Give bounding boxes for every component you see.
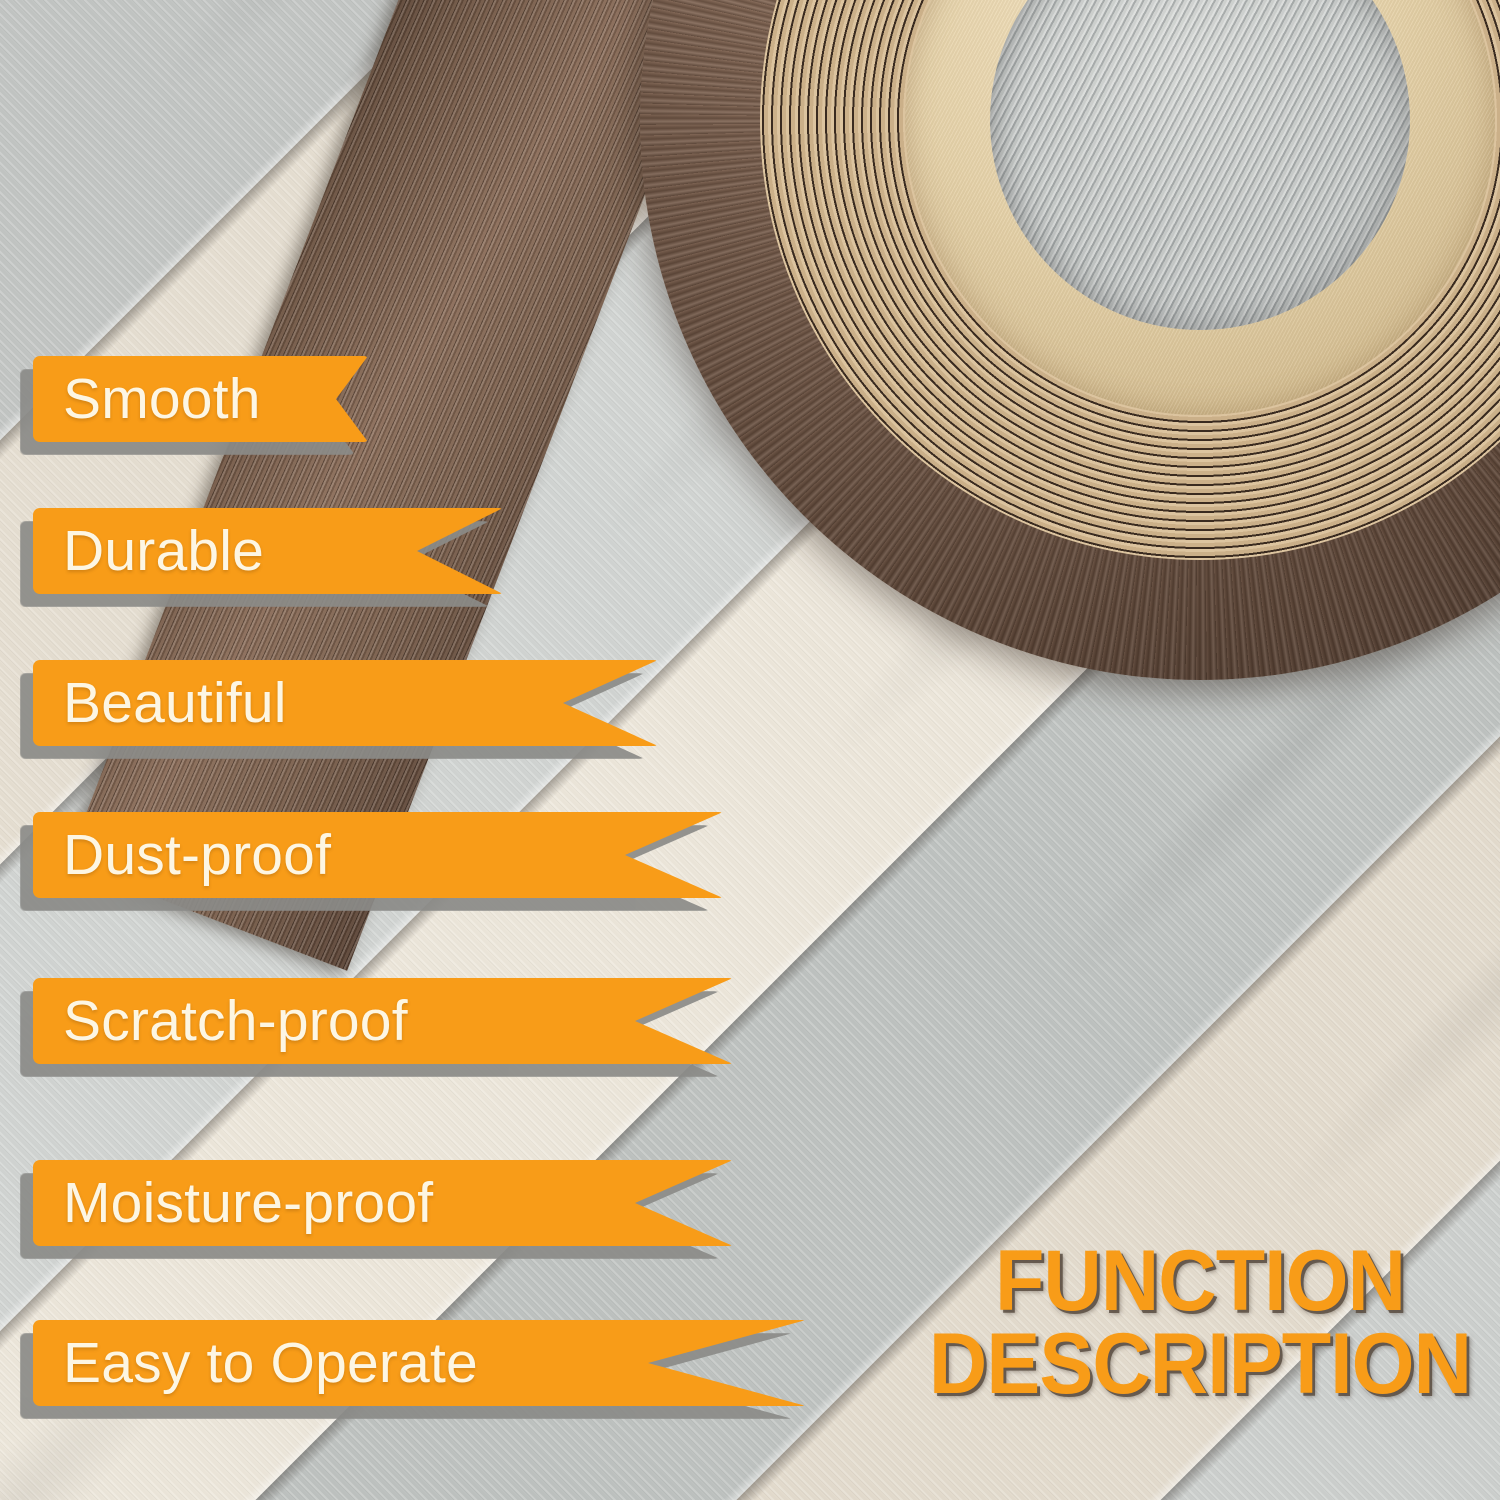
feature-banner-smooth[interactable]: Smooth bbox=[33, 356, 368, 442]
title-line-1: FUNCTION bbox=[918, 1240, 1482, 1323]
function-description-title: FUNCTION DESCRIPTION bbox=[918, 1240, 1482, 1405]
feature-banner-label: Durable bbox=[63, 523, 264, 580]
feature-banner-label: Beautiful bbox=[63, 675, 287, 732]
feature-banner-label: Easy to Operate bbox=[63, 1335, 478, 1392]
feature-banner-moisture-proof[interactable]: Moisture-proof bbox=[33, 1160, 733, 1246]
feature-banner-label: Moisture-proof bbox=[63, 1175, 433, 1232]
feature-banner-label: Dust-proof bbox=[63, 827, 331, 884]
title-line-2: DESCRIPTION bbox=[918, 1323, 1482, 1406]
infographic-canvas: SmoothDurableBeautifulDust-proofScratch-… bbox=[0, 0, 1500, 1500]
feature-banner-label: Smooth bbox=[63, 371, 261, 428]
feature-banner-dust-proof[interactable]: Dust-proof bbox=[33, 812, 723, 898]
feature-banner-label: Scratch-proof bbox=[63, 993, 408, 1050]
feature-banner-scratch-proof[interactable]: Scratch-proof bbox=[33, 978, 733, 1064]
